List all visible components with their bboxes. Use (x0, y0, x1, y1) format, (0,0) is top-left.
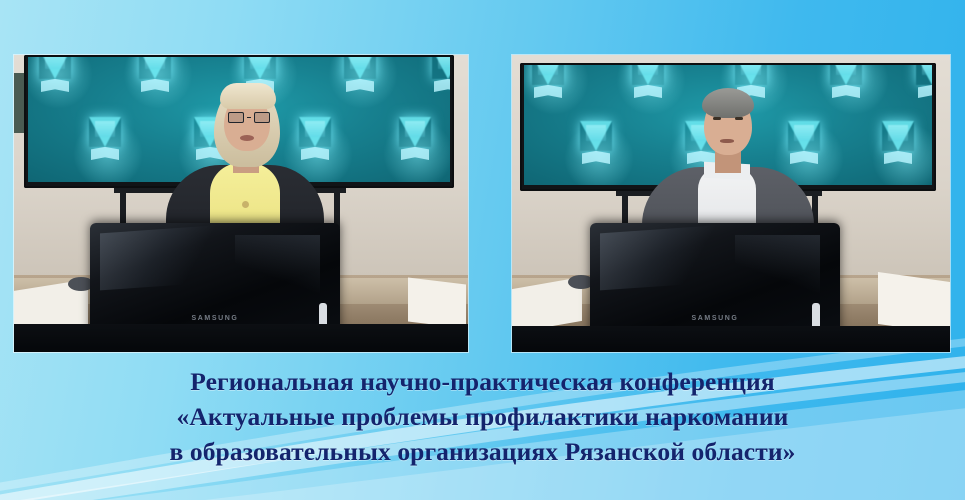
conference-title-line-1: Региональная научно-практическая конфере… (0, 364, 965, 399)
eye-left (713, 117, 721, 120)
hair-fringe (220, 83, 276, 109)
glasses-lens-right (254, 112, 270, 123)
glasses-lens-left (228, 112, 244, 123)
eye-right (735, 117, 743, 120)
samsung-logo: SAMSUNG (90, 315, 340, 322)
conference-title-line-3: в образовательных организациях Рязанской… (0, 434, 965, 469)
monitor-glare (100, 223, 255, 291)
monitor-glare (600, 223, 755, 291)
mouth (720, 139, 734, 143)
glasses (228, 112, 270, 123)
glasses-bridge (247, 117, 251, 119)
papers-right (408, 277, 466, 328)
samsung-logo: SAMSUNG (590, 315, 840, 322)
foreground-desk (512, 326, 950, 352)
pendant (242, 201, 249, 208)
conference-title: Региональная научно-практическая конфере… (0, 364, 965, 469)
foreground-desk (14, 324, 468, 352)
mouth (240, 135, 254, 141)
hair (702, 88, 754, 118)
display-stand-right-leg (334, 188, 340, 228)
monitor-glare-2 (235, 235, 320, 307)
video-panel-left[interactable]: SAMSUNG (14, 55, 468, 352)
video-panel-right[interactable]: SAMSUNG (512, 55, 950, 352)
monitor-glare-2 (735, 235, 820, 307)
papers-right (878, 272, 950, 334)
conference-title-line-2: «Актуальные проблемы профилактики нарком… (0, 399, 965, 434)
display-stand-left-leg (120, 188, 126, 228)
conference-slide: SAMSUNG (0, 0, 965, 500)
